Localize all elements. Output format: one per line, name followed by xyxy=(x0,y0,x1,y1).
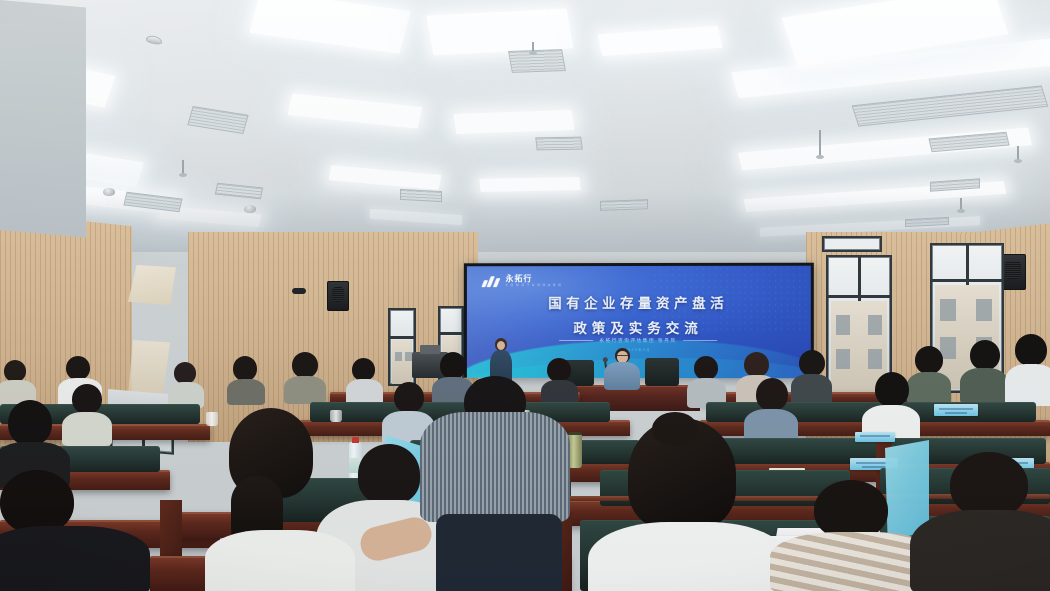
host-face xyxy=(497,341,505,350)
presentation-title-line1: 国有企业存量资产盘活 xyxy=(548,296,728,312)
neighboring-building xyxy=(405,352,412,361)
attendee-head xyxy=(358,444,420,504)
neighboring-building xyxy=(392,340,412,384)
hvac-vent xyxy=(508,49,566,73)
wall-light-panel xyxy=(128,265,176,305)
attendee-torso xyxy=(284,376,326,404)
hvac-vent xyxy=(123,192,182,212)
attendee-torso xyxy=(1005,364,1050,406)
attendee-head xyxy=(4,360,26,382)
company-logo: 永拓行 Y O N G T U O H A N G xyxy=(483,275,562,287)
attendee-head xyxy=(0,470,74,534)
attendee xyxy=(958,340,1008,402)
logo-english-name: Y O N G T U O H A N G xyxy=(506,284,562,287)
attendee-head xyxy=(440,352,466,379)
projector-mount xyxy=(292,288,306,294)
attendee-torso xyxy=(205,530,355,591)
name-card-text-line xyxy=(939,408,972,410)
conference-room-photo: 永拓行 Y O N G T U O H A N G 国有企业存量资产盘活 政策及… xyxy=(0,0,1050,591)
attendee-torso xyxy=(960,368,1008,404)
attendee-torso xyxy=(588,522,788,591)
wall-speaker xyxy=(327,281,349,311)
attendee-head xyxy=(799,350,825,376)
attendee-head xyxy=(174,362,196,384)
hvac-vent xyxy=(187,106,248,134)
neighboring-building xyxy=(395,352,402,361)
exterior-window xyxy=(822,236,882,252)
wall-light-panel xyxy=(128,340,170,398)
hvac-vent xyxy=(400,189,442,202)
led-panel-light xyxy=(329,165,442,189)
attendee-head xyxy=(66,356,90,380)
attendee-head xyxy=(814,480,888,540)
attendee xyxy=(283,352,325,404)
logo-chinese-name: 永拓行 xyxy=(506,275,562,283)
attendee xyxy=(860,372,920,440)
sprinkler-head xyxy=(532,42,534,52)
attendee-head xyxy=(352,358,375,381)
attendee-head xyxy=(694,356,718,380)
attendee xyxy=(0,470,150,591)
neighboring-building xyxy=(976,299,992,321)
attendee xyxy=(168,362,204,406)
attendee xyxy=(0,360,34,404)
attendee-head xyxy=(292,352,318,378)
attendee-bun xyxy=(652,412,698,446)
attendee-head xyxy=(72,384,102,414)
sprinkler-head xyxy=(819,130,821,156)
neighboring-building xyxy=(940,299,956,321)
attendee-torso xyxy=(227,379,265,405)
ceiling xyxy=(0,0,1050,252)
attendee-torso xyxy=(420,412,570,522)
wall-panel-left xyxy=(0,0,86,238)
bottle-cap xyxy=(352,437,359,443)
attendee-head xyxy=(1015,334,1047,366)
desk-name-card xyxy=(934,404,978,416)
led-panel-light xyxy=(370,209,462,225)
led-panel-light xyxy=(479,177,580,192)
presenter-chair xyxy=(645,358,679,386)
attendee xyxy=(345,358,383,406)
attendee-head xyxy=(547,358,571,382)
hvac-vent xyxy=(215,183,263,200)
presenter-glasses-icon xyxy=(617,355,628,357)
led-panel-light xyxy=(250,0,411,54)
attendee xyxy=(686,356,726,406)
attendee-torso xyxy=(0,526,150,591)
attendee-head xyxy=(756,378,788,411)
led-panel-light xyxy=(159,206,262,228)
neighboring-building xyxy=(868,349,882,369)
name-card-text-line xyxy=(945,412,968,414)
sprinkler-head xyxy=(1017,146,1019,160)
attendee-head xyxy=(233,356,257,381)
hvac-vent xyxy=(600,199,648,211)
attendee xyxy=(205,408,345,591)
dome-camera xyxy=(103,188,115,196)
neighboring-building xyxy=(868,315,882,335)
attendee-head xyxy=(8,400,52,446)
presenter-torso xyxy=(604,362,640,390)
led-panel-light xyxy=(598,26,723,56)
hvac-vent xyxy=(535,137,583,151)
presentation-title: 国有企业存量资产盘活 政策及实务交流 xyxy=(467,292,811,337)
attendee-head xyxy=(970,340,1000,370)
attendee xyxy=(0,400,70,480)
presentation-title-line2: 政策及实务交流 xyxy=(467,317,811,337)
attendee xyxy=(770,480,930,591)
attendee-head xyxy=(744,352,769,377)
name-card-text-line xyxy=(860,435,890,437)
neighboring-building xyxy=(836,315,850,335)
led-panel-light xyxy=(288,93,423,128)
attendee xyxy=(420,398,570,591)
attendee xyxy=(598,418,778,591)
attendee-head xyxy=(950,452,1028,518)
neighboring-building xyxy=(836,349,850,369)
sprinkler-head xyxy=(960,198,962,210)
seated-presenter xyxy=(603,348,641,388)
attendee xyxy=(225,356,265,404)
led-panel-light xyxy=(426,9,573,56)
logo-mark-icon xyxy=(483,275,502,287)
attendee-legs xyxy=(436,514,562,591)
desk-name-card xyxy=(855,432,895,442)
hvac-vent xyxy=(852,85,1049,126)
smoke-detector xyxy=(146,35,162,46)
attendee xyxy=(1005,334,1050,404)
attendee-head xyxy=(875,372,909,407)
sprinkler-head xyxy=(182,160,184,174)
attendee xyxy=(920,452,1050,591)
hvac-vent xyxy=(905,217,949,227)
dome-camera xyxy=(244,205,256,213)
attendee-head xyxy=(915,346,943,374)
led-panel-light xyxy=(454,110,575,134)
attendee-torso xyxy=(910,510,1050,591)
